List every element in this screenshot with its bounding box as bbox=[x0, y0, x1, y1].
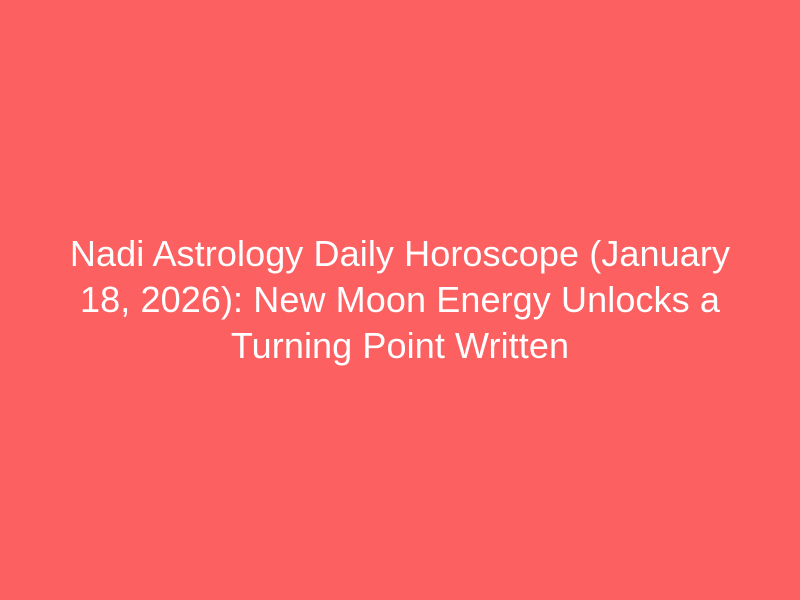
article-placeholder-card: Nadi Astrology Daily Horoscope (January … bbox=[0, 0, 800, 600]
title-block: Nadi Astrology Daily Horoscope (January … bbox=[68, 231, 732, 369]
page-title: Nadi Astrology Daily Horoscope (January … bbox=[68, 231, 732, 369]
